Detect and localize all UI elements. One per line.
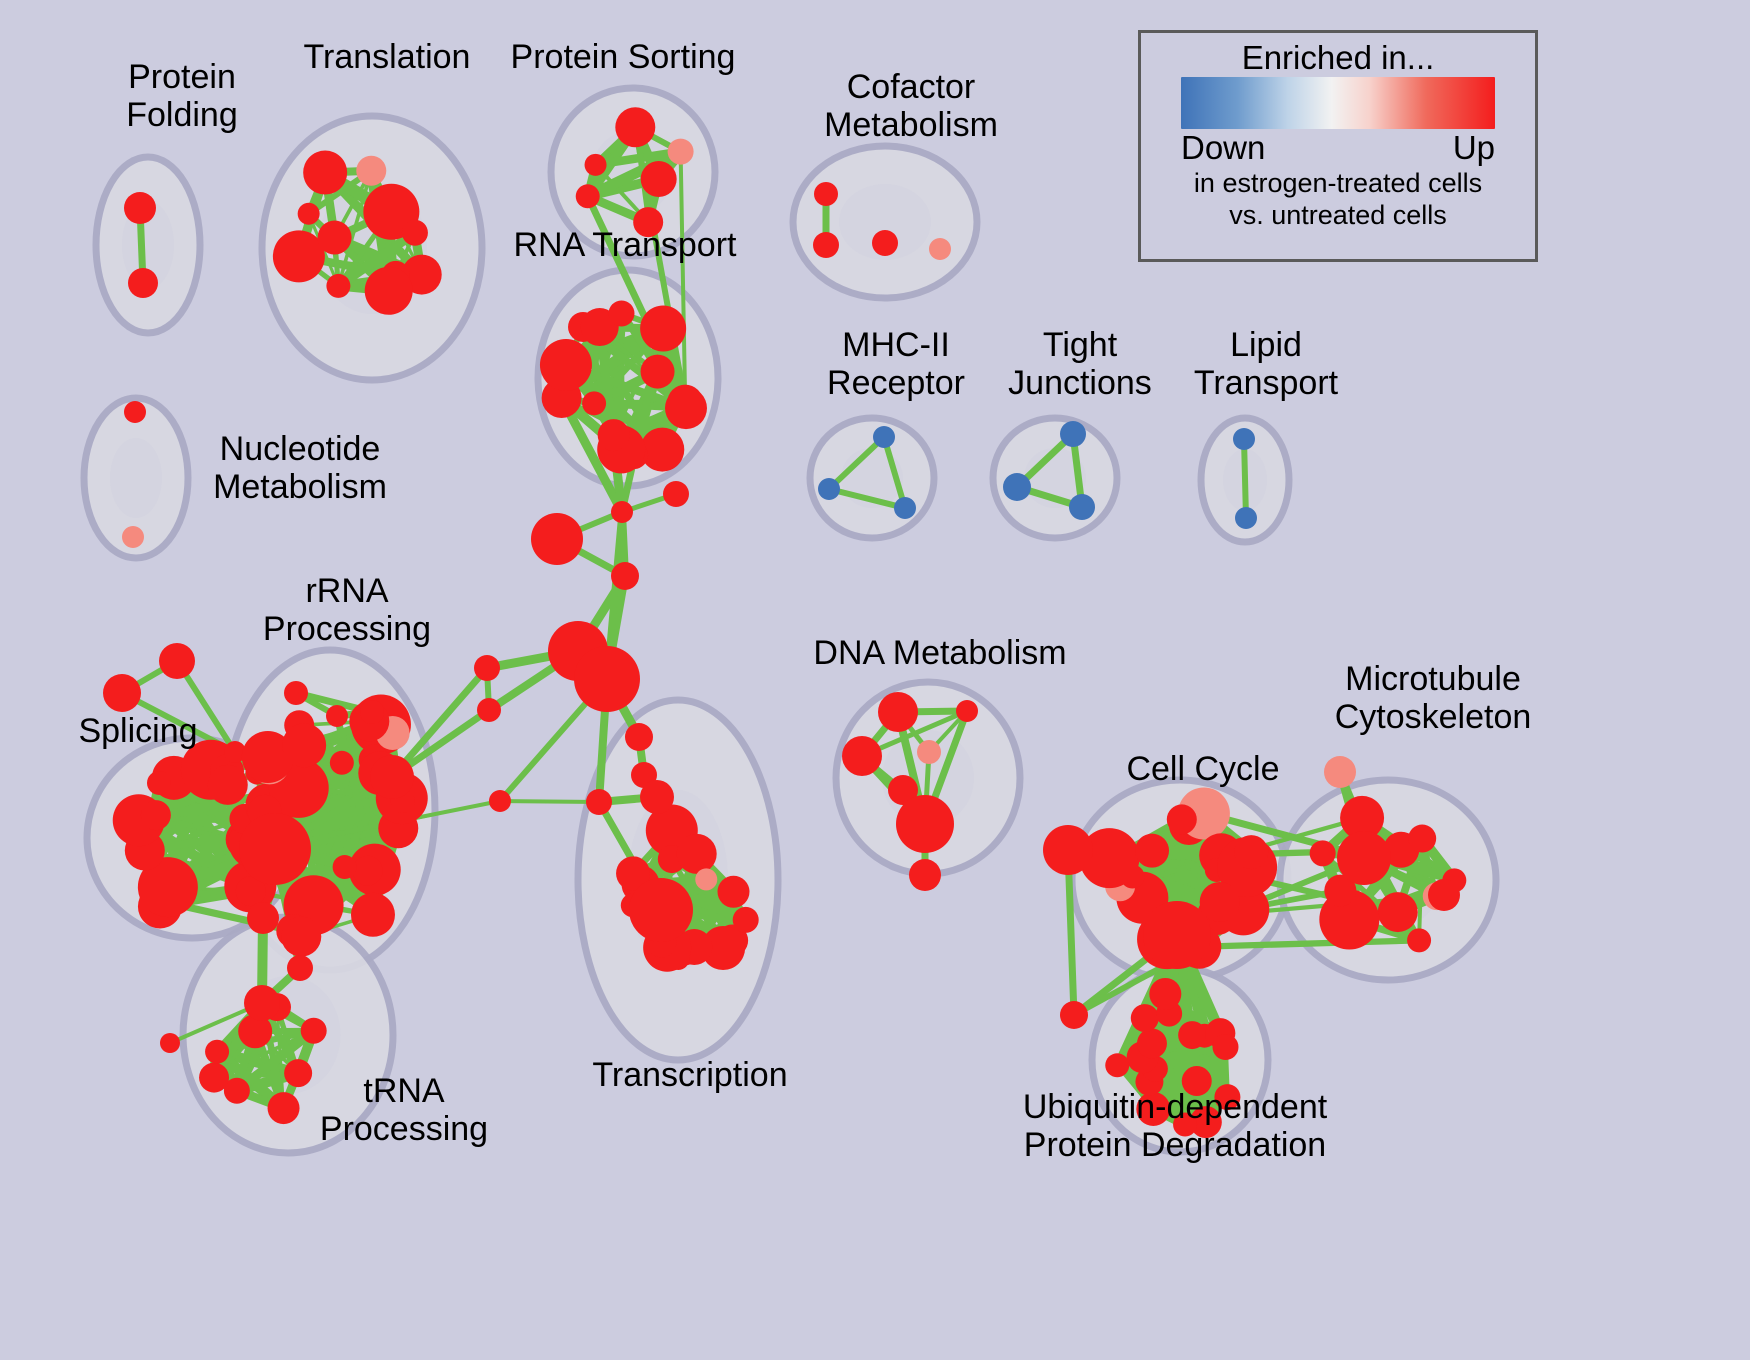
network-node[interactable] [640,305,686,351]
network-node[interactable] [894,497,916,519]
network-node[interactable] [318,221,352,255]
network-node[interactable] [574,646,640,712]
network-node[interactable] [402,220,428,246]
network-node[interactable] [582,391,606,415]
network-node[interactable] [1324,756,1356,788]
network-node[interactable] [1135,834,1169,868]
network-node[interactable] [326,274,350,298]
cluster-label-mhc-ii: MHC-II Receptor [796,326,996,402]
network-node[interactable] [360,700,384,724]
network-node[interactable] [1131,1004,1159,1032]
legend-color-bar [1181,77,1495,129]
network-node[interactable] [1143,901,1211,969]
cluster-label-translation: Translation [272,38,502,76]
network-node[interactable] [1233,428,1255,450]
cluster-label-cofactor: Cofactor Metabolism [792,68,1030,144]
cluster-label-lipid-transport: Lipid Transport [1176,326,1356,402]
network-node[interactable] [489,790,511,812]
network-node[interactable] [103,674,141,712]
network-node[interactable] [159,643,195,679]
network-node[interactable] [878,692,918,732]
network-node[interactable] [122,526,144,548]
network-node[interactable] [813,232,839,258]
network-node[interactable] [1043,825,1093,875]
network-node[interactable] [124,401,146,423]
network-node[interactable] [531,513,583,565]
network-node[interactable] [872,230,898,256]
legend-title: Enriched in... [1181,39,1495,77]
network-node[interactable] [1407,928,1431,952]
network-node[interactable] [281,917,321,957]
network-node[interactable] [205,1040,229,1064]
network-node[interactable] [1003,473,1031,501]
network-node[interactable] [474,655,500,681]
network-node[interactable] [540,339,592,391]
network-node[interactable] [1149,978,1181,1010]
cluster-label-ubiquitin: Ubiquitin-dependent Protein Degradation [990,1088,1360,1164]
network-node[interactable] [929,238,951,260]
network-node[interactable] [818,478,840,500]
legend-box: Enriched in... Down Up in estrogen-treat… [1138,30,1538,262]
network-node[interactable] [1200,882,1240,922]
network-node[interactable] [1060,421,1086,447]
network-node[interactable] [128,268,158,298]
network-node[interactable] [956,700,978,722]
network-node[interactable] [615,107,655,147]
network-node[interactable] [608,300,634,326]
network-node[interactable] [677,834,717,874]
cluster-label-protein-sorting: Protein Sorting [498,38,748,76]
network-node[interactable] [733,907,759,933]
network-node[interactable] [842,736,882,776]
network-node[interactable] [641,161,677,197]
cluster-halo-inner [110,438,162,518]
network-node[interactable] [141,800,171,830]
network-node[interactable] [1234,835,1268,869]
network-node[interactable] [301,1018,327,1044]
cluster-label-protein-folding: Protein Folding [82,58,282,134]
network-node[interactable] [199,1063,229,1093]
network-node[interactable] [629,878,693,942]
network-node[interactable] [641,355,675,389]
network-node[interactable] [287,955,313,981]
network-node[interactable] [124,192,156,224]
network-node[interactable] [576,184,600,208]
network-node[interactable] [208,765,248,805]
network-node[interactable] [356,156,386,186]
network-node[interactable] [814,182,838,206]
network-node[interactable] [909,859,941,891]
network-node[interactable] [1235,507,1257,529]
network-node[interactable] [244,985,280,1021]
network-figure: Protein FoldingTranslationProtein Sortin… [0,0,1750,1360]
cluster-label-nucleotide: Nucleotide Metabolism [190,430,410,506]
network-node[interactable] [611,501,633,523]
network-node[interactable] [640,780,674,814]
network-node[interactable] [333,855,357,879]
network-node[interactable] [282,723,326,767]
network-node[interactable] [695,868,717,890]
network-node[interactable] [896,795,954,853]
network-node[interactable] [625,723,653,751]
network-node[interactable] [1060,1001,1088,1029]
network-node[interactable] [477,698,501,722]
network-node[interactable] [365,267,413,315]
network-node[interactable] [665,387,707,429]
cluster-label-splicing: Splicing [58,712,218,750]
network-node[interactable] [351,893,395,937]
network-node[interactable] [1167,804,1197,834]
network-node[interactable] [1310,840,1336,866]
network-edge [500,801,599,802]
network-node[interactable] [370,755,414,799]
network-node[interactable] [917,740,941,764]
network-node[interactable] [1408,825,1436,853]
network-node[interactable] [247,902,279,934]
network-node[interactable] [1212,1034,1238,1060]
network-node[interactable] [585,154,607,176]
network-edge [1244,439,1246,518]
legend-left-label: Down [1181,129,1265,167]
network-node[interactable] [717,876,749,908]
network-node[interactable] [298,203,320,225]
network-node[interactable] [668,139,694,165]
cluster-label-trna-processing: tRNA Processing [304,1072,504,1148]
network-node[interactable] [160,1033,180,1053]
network-node[interactable] [1137,1028,1167,1058]
network-node[interactable] [586,789,612,815]
network-node[interactable] [273,230,325,282]
network-node[interactable] [1178,1021,1206,1049]
cluster-label-microtubule: Microtubule Cytoskeleton [1308,660,1558,736]
legend-subtitle-line2: vs. untreated cells [1181,199,1495,231]
network-node[interactable] [1428,879,1460,911]
network-node[interactable] [611,562,639,590]
network-node[interactable] [284,681,308,705]
network-node[interactable] [303,151,347,195]
cluster-label-tight-junctions: Tight Junctions [990,326,1170,402]
cluster-label-rrna-processing: rRNA Processing [252,572,442,648]
network-node[interactable] [330,751,354,775]
network-node[interactable] [1378,892,1418,932]
network-node[interactable] [1069,494,1095,520]
cluster-label-transcription: Transcription [570,1056,810,1094]
network-node[interactable] [663,481,689,507]
network-node[interactable] [873,426,895,448]
network-node[interactable] [268,1092,300,1124]
network-node[interactable] [1105,1053,1129,1077]
network-node[interactable] [353,856,383,886]
network-node[interactable] [147,771,171,795]
network-node[interactable] [326,705,348,727]
cluster-label-cell-cycle: Cell Cycle [1108,750,1298,788]
network-node[interactable] [239,813,311,885]
cluster-label-rna-transport: RNA Transport [500,226,750,264]
cluster-label-dna-metabolism: DNA Metabolism [810,634,1070,672]
network-node[interactable] [1337,831,1391,885]
legend-right-label: Up [1453,129,1495,167]
legend-subtitle-line1: in estrogen-treated cells [1181,167,1495,199]
network-node[interactable] [598,419,630,451]
